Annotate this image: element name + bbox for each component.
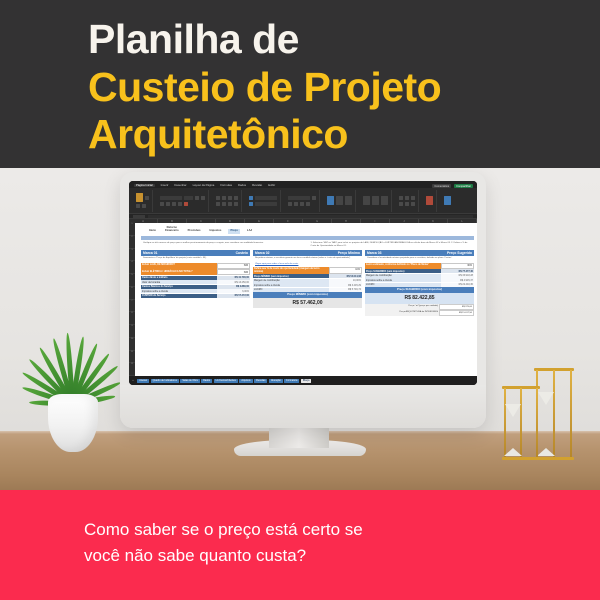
row-label: Custos Básicos do Serviço	[141, 285, 217, 289]
monitor-chin	[120, 385, 486, 428]
nav-tab-preco[interactable]: Preço	[228, 229, 239, 234]
ribbon-tab-exibir[interactable]: Exibir	[268, 184, 275, 187]
ribbon-tab-pagina-inicial[interactable]: Página Inicial	[134, 184, 155, 187]
ribbon-group-addins[interactable]	[441, 190, 454, 212]
mini-row-value: R$ 375,00	[439, 304, 474, 310]
table-row: Preço MÍNIMO (sem impostos) R$ 54.014,08	[253, 274, 362, 278]
mini-row-preco-interiores: Preço ARQUITETURA da INTERIORES R$ 15.01…	[365, 310, 474, 316]
row-value: R$ 77.477,40	[441, 269, 474, 273]
formula-input[interactable]	[148, 215, 473, 218]
card-3-subtitle: Preço Sugerido	[447, 251, 472, 255]
table-row: LUCRO R$ 22.440,30	[365, 283, 474, 287]
sheet-tab-formatura[interactable]: Formatura	[284, 379, 299, 383]
mini-row-label: Preço ARQUITETURA da INTERIORES	[365, 310, 439, 316]
excel-ribbon[interactable]	[129, 188, 477, 214]
ribbon-group-editing[interactable]	[396, 190, 419, 212]
card-marca-03: Marca 03 Preço Sugerido Considera a lucr…	[365, 250, 474, 316]
sheet-tab-receitas[interactable]: Receitas	[254, 379, 267, 383]
table-row: Impostos sobre a Venda R$ 4.945,37	[365, 278, 474, 282]
row-label: Impostos sobre a Venda	[365, 278, 441, 282]
row-value: R$ 22.440,30	[441, 283, 474, 287]
row-value: R$ 33.918,28	[441, 274, 474, 278]
card-1-description: Demonstra o 'Preço de Equilíbrio' do pro…	[141, 256, 250, 263]
mini-row-preco-m2: Preço / m² (preço por unidade) R$ 375,00	[365, 304, 474, 310]
ribbon-group-alignment[interactable]	[213, 190, 242, 212]
row-value: R$ 41.700,00	[217, 276, 250, 280]
ribbon-group-wrap[interactable]	[246, 190, 281, 212]
price-cards: Marca 01 Custeio Demonstra o 'Preço de E…	[141, 250, 474, 316]
footer-banner: Como saber se o preço está certo se você…	[0, 490, 600, 600]
ribbon-tab-formulas[interactable]: Fórmulas	[220, 184, 232, 187]
ribbon-group-font[interactable]	[157, 190, 209, 212]
sheet-tab-acesso[interactable]: Acesso	[137, 379, 149, 383]
sheet-content: Início Retorno Financeiro Provisões Impo…	[135, 223, 477, 376]
row-label: Custo direto e indireto	[141, 276, 217, 280]
table-row[interactable]: Lucro estimado, conforme definido no 'Pl…	[365, 263, 474, 269]
card-1-title: Marca 01	[143, 251, 158, 255]
table-row: Custos Básicos do Serviço R$ 2.880,00	[141, 285, 250, 289]
table-row: Preço SUGERIDO (sem impostos) R$ 77.477,…	[365, 269, 474, 273]
nav-tab-impostos[interactable]: Impostos	[207, 229, 223, 234]
row-label: CUSTEIO do Serviço	[141, 294, 217, 298]
nav-accent-bar	[141, 236, 474, 240]
row-label: Lucro estimado, conforme definido no 'Pl…	[365, 263, 441, 269]
name-box[interactable]	[133, 215, 145, 218]
row-value[interactable]: 10%	[329, 267, 362, 274]
row-value: R$ 54.014,08	[329, 274, 362, 278]
sheet-tab-quadro-indicadores[interactable]: Quadro de Indicadores	[151, 379, 179, 383]
card-3-big-value: R$ 82.422,85	[365, 293, 474, 303]
note-left: Verifique as três marcas de preço para o…	[143, 242, 305, 248]
row-value: 10,00%	[329, 279, 362, 283]
table-row: Impostos sobre a Venda R$ 3.445,29	[253, 283, 362, 287]
desktop-monitor: Página Inicial Inserir Desenhar Layout d…	[120, 172, 486, 428]
title-line-2: Custeio de Projeto	[88, 64, 588, 112]
page-title: Planilha de Custeio de Projeto Arquitetô…	[88, 16, 588, 159]
ribbon-tab-layout-da-pagina[interactable]: Layout da Página	[193, 184, 215, 187]
sheet-tab-dados[interactable]: Dados	[201, 379, 212, 383]
row-label: Incluir ELÉTRICA / HIDRÁULICA NO TOTAL?	[141, 269, 217, 275]
row-label: Valor da hora/dia	[141, 280, 217, 284]
title-line-1: Planilha de	[88, 16, 588, 64]
ribbon-group-styles[interactable]	[324, 190, 356, 212]
promo-graphic: Planilha de Custeio de Projeto Arquitetô…	[0, 0, 600, 600]
ribbon-tab-desenhar[interactable]: Desenhar	[174, 184, 186, 187]
sheet-tab-arquivos[interactable]: Arquivos	[239, 379, 252, 383]
sheet-tab-preco[interactable]: Preço	[301, 379, 312, 383]
row-label: Preço MÍNIMO (sem impostos)	[253, 274, 329, 278]
gold-hourglass-lanterns	[498, 360, 594, 460]
table-row[interactable]: Incluir LAJE, DE MO/HIDRO? SIM	[141, 263, 250, 269]
row-label: Impostos sobre a Venda	[141, 289, 217, 293]
instruction-notes: Verifique as três marcas de preço para o…	[141, 242, 474, 250]
row-label: LUCRO	[365, 283, 441, 287]
card-3-title: Marca 03	[367, 251, 382, 255]
ribbon-group-confidentiality[interactable]	[423, 190, 437, 212]
row-label: Margem de contribuição	[365, 274, 441, 278]
row-value: R$ 3.445,29	[329, 283, 362, 287]
mini-row-label: Preço / m² (preço por unidade)	[365, 304, 439, 310]
footer-question: Como saber se o preço está certo se você…	[84, 517, 544, 570]
row-value[interactable]: SIM	[217, 263, 250, 269]
card-3-description: Considera a lucratividade mínima projeta…	[365, 256, 474, 263]
table-row: Impostos sobre a Venda 6,00%	[141, 289, 250, 293]
card-2-big-label: Preço MÍNIMO (com impostos)	[253, 292, 362, 297]
table-row[interactable]: Defina seu % de custo de oportunidade (m…	[253, 267, 362, 274]
row-label: Margem de contribuição	[253, 279, 329, 283]
row-value: R$ 57.272,00	[217, 294, 250, 298]
ribbon-group-cells[interactable]	[360, 190, 392, 212]
mini-row-value: R$ 15.017,50	[439, 310, 474, 316]
row-value: R$ 4.945,37	[441, 278, 474, 282]
ribbon-tab-revisao[interactable]: Revisão	[252, 184, 262, 187]
share-button[interactable]: Compartilhar	[454, 184, 473, 188]
sheet-tab-la-custos-clientes[interactable]: LA Custos/Clientes	[214, 379, 238, 383]
footer-line-1: Como saber se o preço está certo se	[84, 517, 544, 543]
row-value[interactable]: SIM	[217, 269, 250, 275]
row-value[interactable]: 30%	[441, 263, 474, 269]
row-value: 6,00%	[217, 289, 250, 293]
ribbon-tab-dados[interactable]: Dados	[238, 184, 246, 187]
row-label: Preço SUGERIDO (sem impostos)	[365, 269, 441, 273]
workbook-sheet-tabs[interactable]: ‹› Acesso Quadro de Indicadores Salas de…	[129, 376, 477, 385]
row-label: Incluir LAJE, DE MO/HIDRO?	[141, 263, 217, 269]
ribbon-tab-inserir[interactable]: Inserir	[161, 184, 169, 187]
sheet-section-nav[interactable]: Início Retorno Financeiro Provisões Impo…	[141, 224, 474, 235]
excel-application: Página Inicial Inserir Desenhar Layout d…	[129, 181, 477, 385]
worksheet-grid[interactable]: 1 2 3 4 5 6 7 8 9 10 11 12	[129, 223, 477, 376]
nav-tab-inicio[interactable]: Início	[147, 229, 158, 234]
title-line-3: Arquitetônico	[88, 111, 588, 159]
nav-tab-provisoes[interactable]: Provisões	[186, 229, 203, 234]
table-row-total: CUSTEIO do Serviço R$ 57.272,00	[141, 294, 250, 298]
row-label: Impostos sobre a Venda	[253, 283, 329, 287]
sheet-tab-alocacao[interactable]: Alocação	[269, 379, 283, 383]
card-2-subtitle: Preço Mínimo	[338, 251, 360, 255]
ribbon-group-clipboard[interactable]	[133, 190, 153, 212]
potted-spider-plant	[18, 246, 128, 436]
table-row: Margem de contribuição 10,00%	[253, 279, 362, 283]
card-2-title: Marca 02	[255, 251, 270, 255]
footer-line-2: você não sabe quanto custa?	[84, 543, 544, 569]
card-marca-01: Marca 01 Custeio Demonstra o 'Preço de E…	[141, 250, 250, 316]
card-marca-02: Marca 02 Preço Mínimo Na prática mínima,…	[253, 250, 362, 316]
row-label: Defina seu % de custo de oportunidade (m…	[253, 267, 329, 274]
card-1-subtitle: Custeio	[236, 251, 248, 255]
nav-tab-retorno-financeiro[interactable]: Retorno Financeiro	[163, 226, 181, 234]
table-row: Margem de contribuição R$ 33.918,28	[365, 274, 474, 278]
card-2-description: Na prática mínima, o escritório garante …	[253, 256, 362, 263]
card-3-big-label: Preço SUGERIDO (com impostos)	[365, 287, 474, 292]
excel-window-actions[interactable]: Comentários Compartilhar	[432, 184, 473, 188]
comments-button[interactable]: Comentários	[432, 184, 451, 188]
row-value: R$ 13.250,00	[217, 280, 250, 284]
header-banner: Planilha de Custeio de Projeto Arquitetô…	[0, 0, 600, 168]
monitor-screen: Página Inicial Inserir Desenhar Layout d…	[129, 181, 477, 385]
sheet-nav-arrows-icon[interactable]: ‹›	[132, 379, 134, 382]
sheet-tab-salas-de-obra[interactable]: Salas de Obra	[180, 379, 199, 383]
ribbon-group-number[interactable]	[285, 190, 320, 212]
table-row[interactable]: Incluir ELÉTRICA / HIDRÁULICA NO TOTAL? …	[141, 269, 250, 275]
excel-ribbon-tabs[interactable]: Página Inicial Inserir Desenhar Layout d…	[129, 181, 477, 188]
table-row: Custo direto e indireto R$ 41.700,00	[141, 276, 250, 280]
desk-scene: Página Inicial Inserir Desenhar Layout d…	[0, 168, 600, 490]
row-value: R$ 2.880,00	[217, 285, 250, 289]
nav-tab-laj[interactable]: LAJ	[245, 229, 254, 234]
row-value: R$ 5.746,74	[329, 288, 362, 292]
card-2-big-value: R$ 57.462,00	[253, 298, 362, 308]
note-right: 1. Selecione 'SIM' ou 'NÃO' para incluir…	[311, 242, 473, 248]
table-row: Valor da hora/dia R$ 13.250,00	[141, 280, 250, 284]
